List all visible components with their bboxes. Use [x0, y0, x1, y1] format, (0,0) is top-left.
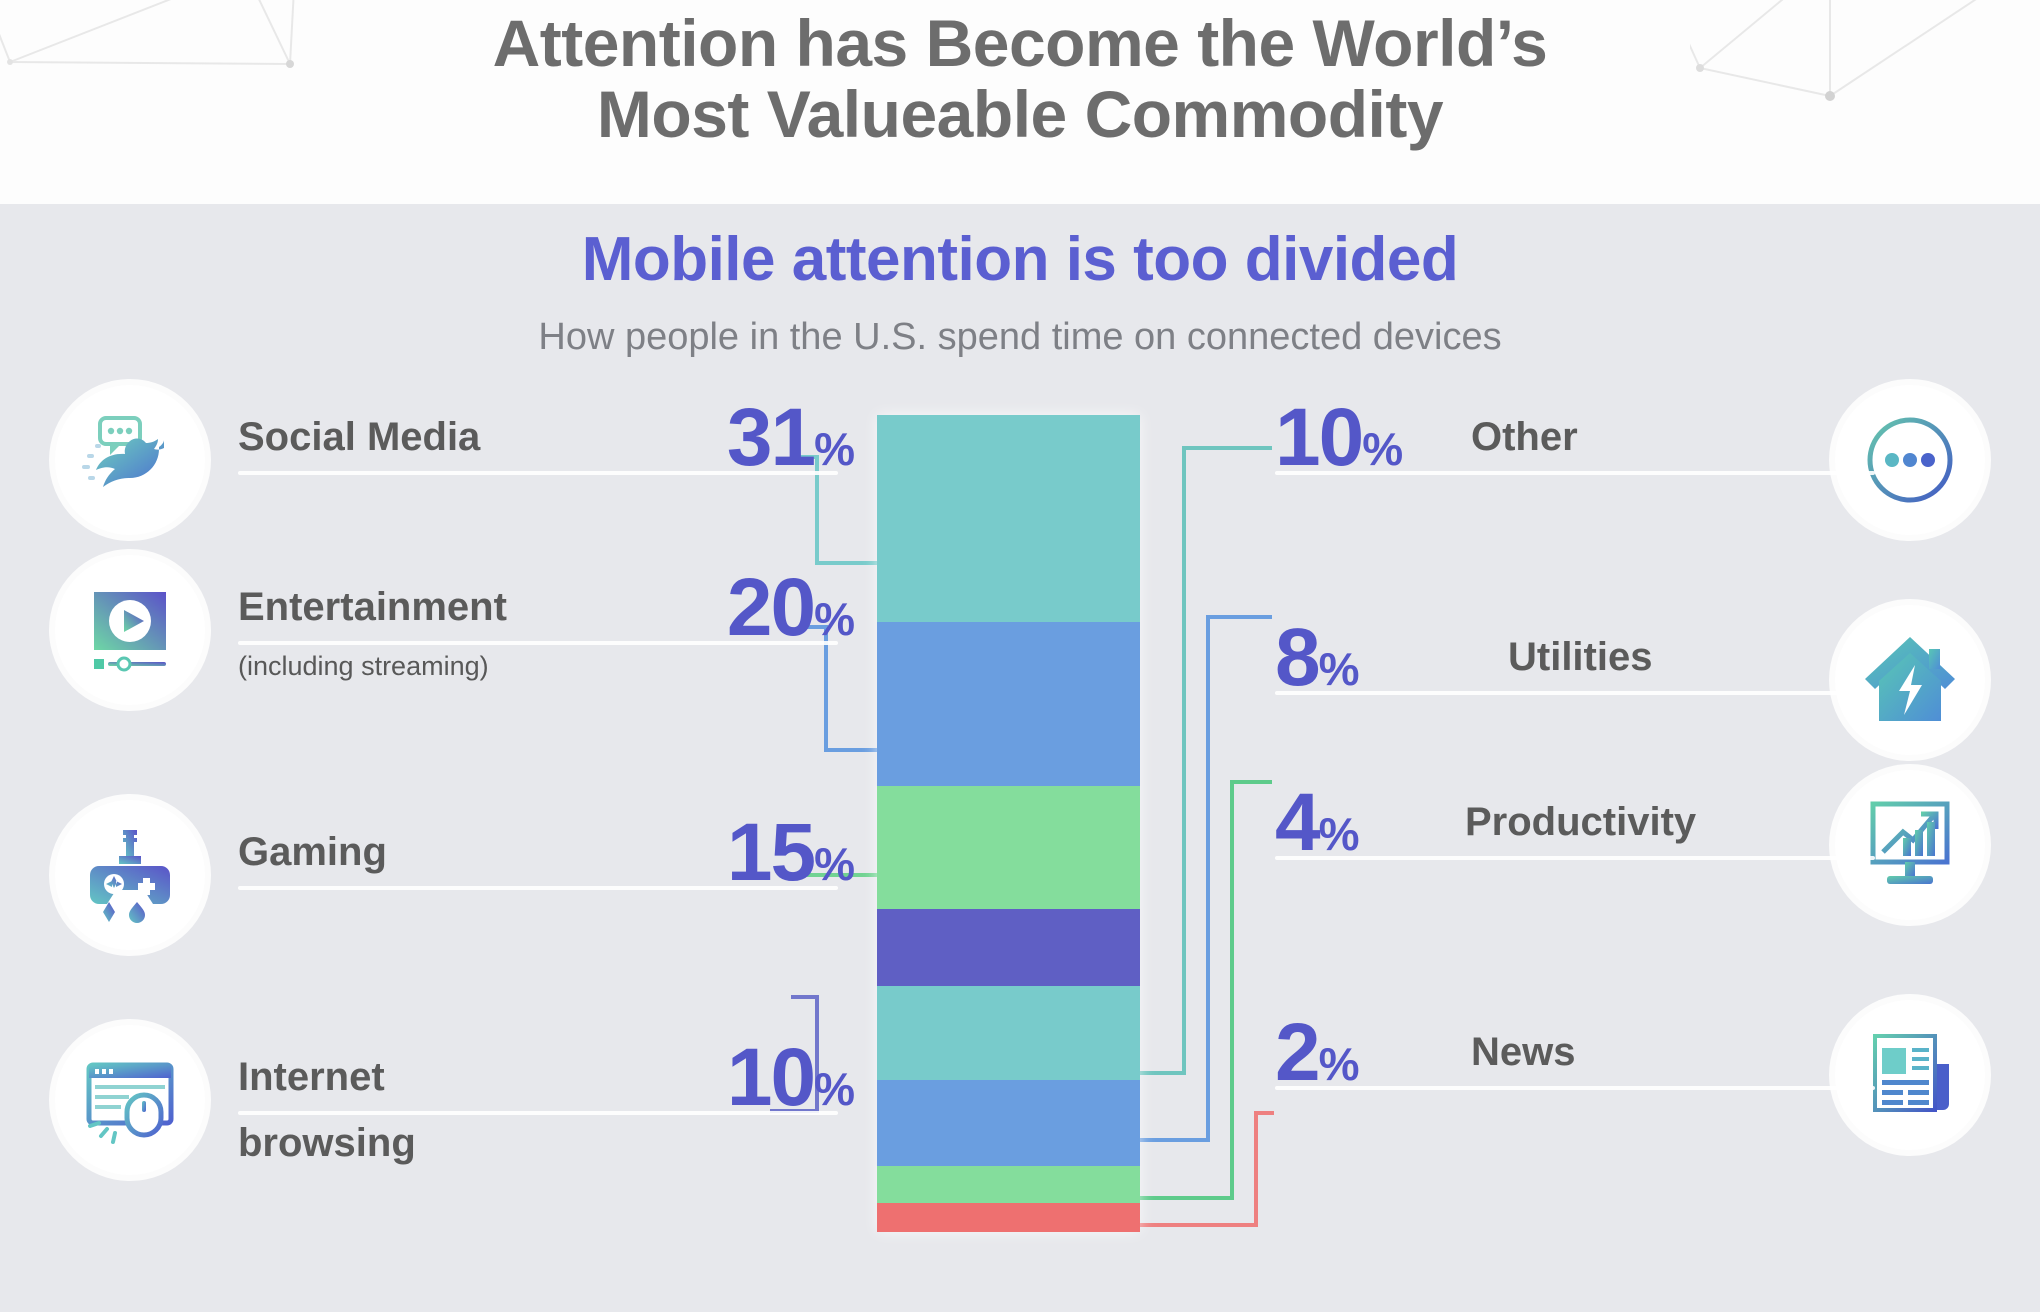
value-gaming: 15% [727, 812, 855, 894]
rule-productivity [1275, 856, 1875, 860]
chart-growth-icon [1859, 794, 1961, 896]
bar-segment-internet-browsing[interactable] [877, 909, 1140, 986]
sublabel-internet-browsing: browsing [238, 1121, 416, 1166]
video-player-icon [80, 580, 180, 680]
value-number-gaming: 15 [727, 807, 814, 898]
page-title: Attention has Become the World’s Most Va… [0, 8, 2040, 151]
value-productivity: 4% [1275, 782, 1360, 864]
value-social-media: 31% [727, 397, 855, 479]
badge-entertainment [55, 555, 205, 705]
badge-other [1835, 385, 1985, 535]
label-social-media: Social Media [238, 415, 480, 460]
label-gaming: Gaming [238, 830, 387, 875]
badge-news [1835, 1000, 1985, 1150]
chart-subtitle: How people in the U.S. spend time on con… [0, 316, 2040, 359]
value-number-other: 10 [1275, 392, 1362, 483]
percent-symbol-entertainment: % [814, 593, 855, 645]
page-title-line-2: Most Valueable Commodity [597, 77, 1443, 151]
value-entertainment: 20% [727, 567, 855, 649]
badge-gaming [55, 800, 205, 950]
legend-row-internet-browsing[interactable]: Internet browsing 10% [55, 1025, 855, 1175]
percent-symbol-social-media: % [814, 423, 855, 475]
value-number-entertainment: 20 [727, 562, 814, 653]
legend-row-gaming[interactable]: Gaming 15% [55, 800, 855, 950]
page-title-line-1: Attention has Become the World’s [493, 6, 1548, 80]
bar-segment-news[interactable] [877, 1203, 1140, 1232]
value-other: 10% [1275, 397, 1403, 479]
header: Attention has Become the World’s Most Va… [0, 0, 2040, 204]
badge-social-media [55, 385, 205, 535]
badge-productivity [1835, 770, 1985, 920]
label-productivity: Productivity [1465, 800, 1696, 845]
legend-row-other[interactable]: 10% Other [1275, 385, 1985, 535]
sublabel-entertainment: (including streaming) [238, 651, 489, 682]
bar-segment-other[interactable] [877, 986, 1140, 1080]
value-number-internet-browsing: 10 [727, 1032, 814, 1123]
label-internet-browsing: Internet [238, 1055, 385, 1100]
newspaper-icon [1859, 1024, 1961, 1126]
stacked-bar-chart [877, 415, 1140, 1232]
percent-symbol-productivity: % [1319, 808, 1360, 860]
percent-symbol-news: % [1319, 1038, 1360, 1090]
percent-symbol-gaming: % [814, 838, 855, 890]
label-utilities: Utilities [1508, 635, 1652, 680]
label-news: News [1471, 1030, 1576, 1075]
label-other: Other [1471, 415, 1578, 460]
ellipsis-circle-icon [1859, 409, 1961, 511]
value-internet-browsing: 10% [727, 1037, 855, 1119]
rule-news [1275, 1086, 1875, 1090]
value-utilities: 8% [1275, 617, 1360, 699]
badge-internet-browsing [55, 1025, 205, 1175]
percent-symbol-utilities: % [1319, 643, 1360, 695]
value-number-social-media: 31 [727, 392, 814, 483]
label-entertainment: Entertainment [238, 585, 507, 630]
legend-row-news[interactable]: 2% News [1275, 1000, 1985, 1150]
rule-other [1275, 471, 1875, 475]
rule-utilities [1275, 691, 1875, 695]
browser-mouse-icon [79, 1049, 181, 1151]
value-number-utilities: 8 [1275, 612, 1319, 703]
value-news: 2% [1275, 1012, 1360, 1094]
bar-segment-social-media[interactable] [877, 415, 1140, 622]
bird-icon [78, 408, 182, 512]
bar-segment-entertainment[interactable] [877, 622, 1140, 786]
bar-segment-productivity[interactable] [877, 1166, 1140, 1204]
percent-symbol-internet-browsing: % [814, 1063, 855, 1115]
legend-row-productivity[interactable]: 4% Productivity [1275, 770, 1985, 920]
legend-row-entertainment[interactable]: Entertainment (including streaming) 20% [55, 555, 855, 705]
chart-title: Mobile attention is too divided [0, 224, 2040, 295]
badge-utilities [1835, 605, 1985, 755]
value-number-news: 2 [1275, 1007, 1319, 1098]
bar-segment-gaming[interactable] [877, 786, 1140, 909]
gamepad-icon [79, 824, 181, 926]
legend-row-social-media[interactable]: Social Media 31% [55, 385, 855, 535]
percent-symbol-other: % [1362, 423, 1403, 475]
house-bolt-icon [1859, 629, 1961, 731]
value-number-productivity: 4 [1275, 777, 1319, 868]
legend-row-utilities[interactable]: 8% Utilities [1275, 605, 1985, 755]
bar-segment-utilities[interactable] [877, 1080, 1140, 1166]
